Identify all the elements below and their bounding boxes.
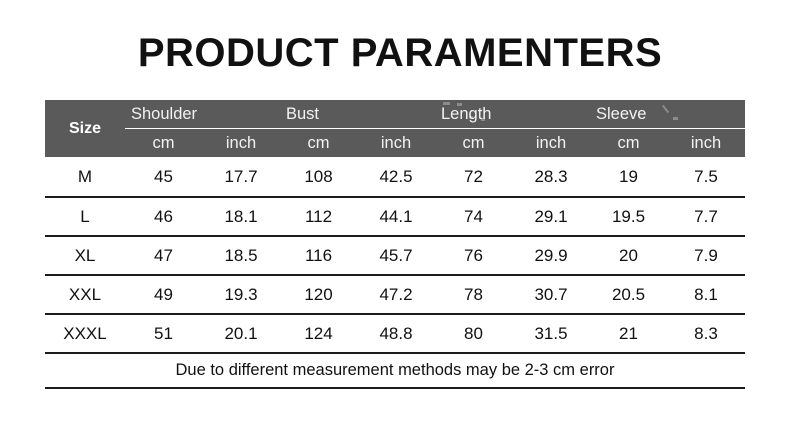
table-row: XXXL5120.112448.88031.5218.3 [45, 313, 745, 352]
table-cell: 8.3 [667, 324, 745, 344]
measurement-note: Due to different measurement methods may… [176, 361, 615, 380]
header-group-sleeve: Sleeve [590, 100, 745, 128]
table-cell: 18.5 [202, 246, 280, 266]
table-body: M4517.710842.57228.3197.5L4618.111244.17… [45, 157, 745, 352]
row-size-label: XXL [45, 285, 125, 305]
header-unit-shoulder-inch: inch [202, 134, 280, 153]
table-row: L4618.111244.17429.119.57.7 [45, 196, 745, 235]
table-cell: 21 [590, 324, 667, 344]
table-cell: 19.3 [202, 285, 280, 305]
table-cell: 7.7 [667, 207, 745, 227]
table-cell: 47 [125, 246, 202, 266]
size-chart-page: PRODUCT PARAMENTERS Size Shoulder Bust L… [0, 0, 800, 445]
header-group-length: Length [435, 100, 590, 128]
header-unit-length-cm: cm [435, 134, 512, 153]
table-cell: 20.1 [202, 324, 280, 344]
table-cell: 30.7 [512, 285, 590, 305]
table-cell: 46 [125, 207, 202, 227]
table-cell: 19.5 [590, 207, 667, 227]
table-cell: 20.5 [590, 285, 667, 305]
table-cell: 17.7 [202, 167, 280, 187]
table-cell: 28.3 [512, 167, 590, 187]
header-group-shoulder: Shoulder [125, 100, 280, 128]
table-cell: 20 [590, 246, 667, 266]
measurement-note-row: Due to different measurement methods may… [45, 352, 745, 389]
table-cell: 116 [280, 246, 357, 266]
header-group-bust: Bust [280, 100, 435, 128]
page-title: PRODUCT PARAMENTERS [0, 33, 800, 73]
row-size-label: M [45, 167, 125, 187]
table-cell: 29.9 [512, 246, 590, 266]
table-cell: 108 [280, 167, 357, 187]
table-cell: 44.1 [357, 207, 435, 227]
table-cell: 18.1 [202, 207, 280, 227]
header-unit-length-inch: inch [512, 134, 590, 153]
header-unit-bust-cm: cm [280, 134, 357, 153]
table-cell: 29.1 [512, 207, 590, 227]
row-size-label: XL [45, 246, 125, 266]
table-cell: 7.5 [667, 167, 745, 187]
table-cell: 19 [590, 167, 667, 187]
table-cell: 42.5 [357, 167, 435, 187]
table-cell: 49 [125, 285, 202, 305]
header-unit-shoulder-cm: cm [125, 134, 202, 153]
table-cell: 80 [435, 324, 512, 344]
table-cell: 72 [435, 167, 512, 187]
table-cell: 78 [435, 285, 512, 305]
table-cell: 7.9 [667, 246, 745, 266]
header-unit-bust-inch: inch [357, 134, 435, 153]
table-cell: 48.8 [357, 324, 435, 344]
table-cell: 51 [125, 324, 202, 344]
table-cell: 124 [280, 324, 357, 344]
row-size-label: L [45, 207, 125, 227]
table-cell: 112 [280, 207, 357, 227]
size-chart-table: Size Shoulder Bust Length Sleeve [45, 100, 745, 389]
header-unit-sleeve-cm: cm [590, 134, 667, 153]
table-cell: 45 [125, 167, 202, 187]
table-header: Size Shoulder Bust Length Sleeve [45, 100, 745, 157]
header-unit-row: cm inch cm inch cm inch cm inch [125, 129, 745, 157]
table-cell: 120 [280, 285, 357, 305]
row-size-label: XXXL [45, 324, 125, 344]
table-cell: 47.2 [357, 285, 435, 305]
header-group-row: Shoulder Bust Length Sleeve [125, 100, 745, 128]
header-unit-sleeve-inch: inch [667, 134, 745, 153]
table-cell: 8.1 [667, 285, 745, 305]
header-size-label: Size [45, 100, 125, 157]
table-row: XL4718.511645.77629.9207.9 [45, 235, 745, 274]
table-cell: 74 [435, 207, 512, 227]
table-row: M4517.710842.57228.3197.5 [45, 157, 745, 196]
table-row: XXL4919.312047.27830.720.58.1 [45, 274, 745, 313]
table-cell: 31.5 [512, 324, 590, 344]
table-cell: 76 [435, 246, 512, 266]
table-cell: 45.7 [357, 246, 435, 266]
